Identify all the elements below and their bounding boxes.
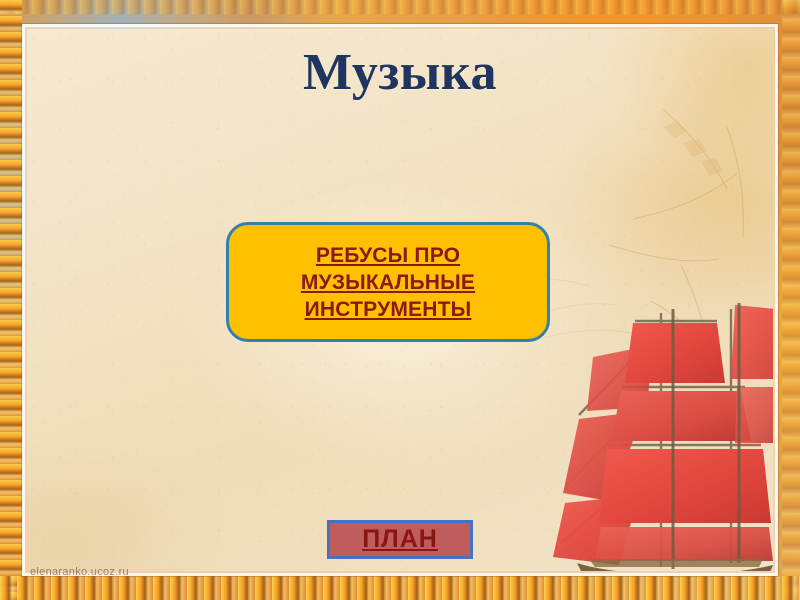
- site-watermark: elenaranko.ucoz.ru: [30, 566, 129, 578]
- rebus-link-box[interactable]: РЕБУСЫ ПРО МУЗЫКАЛЬНЫЕ ИНСТРУМЕНТЫ: [226, 222, 550, 342]
- rebus-link-line-1: РЕБУСЫ ПРО: [301, 242, 475, 269]
- faint-sketch-marks: [513, 69, 773, 369]
- rebus-link-label: РЕБУСЫ ПРО МУЗЫКАЛЬНЫЕ ИНСТРУМЕНТЫ: [291, 242, 485, 323]
- plan-button-label: ПЛАН: [362, 526, 438, 553]
- rebus-link-line-3: ИНСТРУМЕНТЫ: [301, 296, 475, 323]
- rebus-link-line-2: МУЗЫКАЛЬНЫЕ: [301, 269, 475, 296]
- presentation-slide: Музыка РЕБУСЫ ПРО МУЗЫКАЛЬНЫЕ ИНСТРУМЕНТ…: [0, 0, 800, 600]
- slide-title: Музыка: [0, 44, 800, 102]
- plan-button[interactable]: ПЛАН: [327, 520, 473, 559]
- sailing-ship-scarlet-sails: [549, 295, 773, 571]
